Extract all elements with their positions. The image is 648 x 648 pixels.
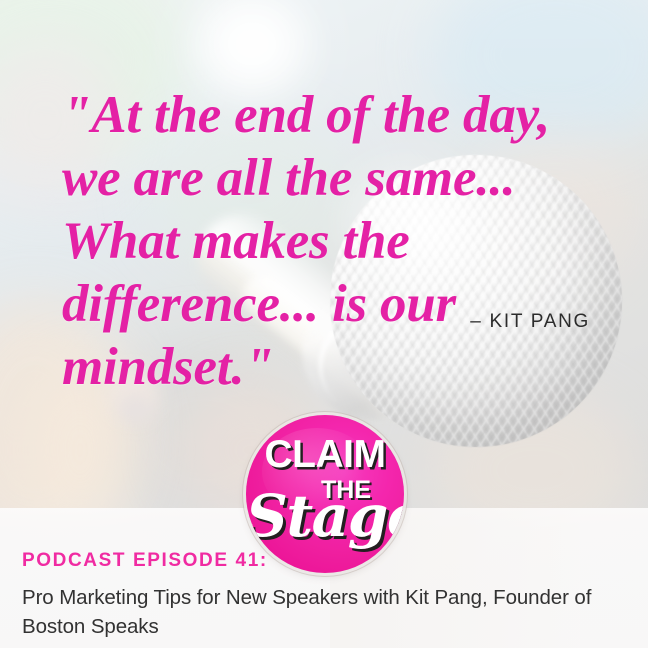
logo-word-claim: CLAIM (246, 435, 404, 474)
quote-text: "At the end of the day, we are all the s… (62, 84, 607, 399)
claim-the-stage-logo[interactable]: CLAIM THE Stage (246, 415, 404, 573)
podcast-episode-label: PODCAST EPISODE 41: (22, 550, 268, 572)
podcast-episode-graphic: "At the end of the day, we are all the s… (0, 0, 648, 648)
podcast-episode-title: Pro Marketing Tips for New Speakers with… (22, 583, 622, 641)
logo-word-stage: Stage (246, 487, 404, 545)
quote-attribution: – KIT PANG (0, 311, 590, 333)
